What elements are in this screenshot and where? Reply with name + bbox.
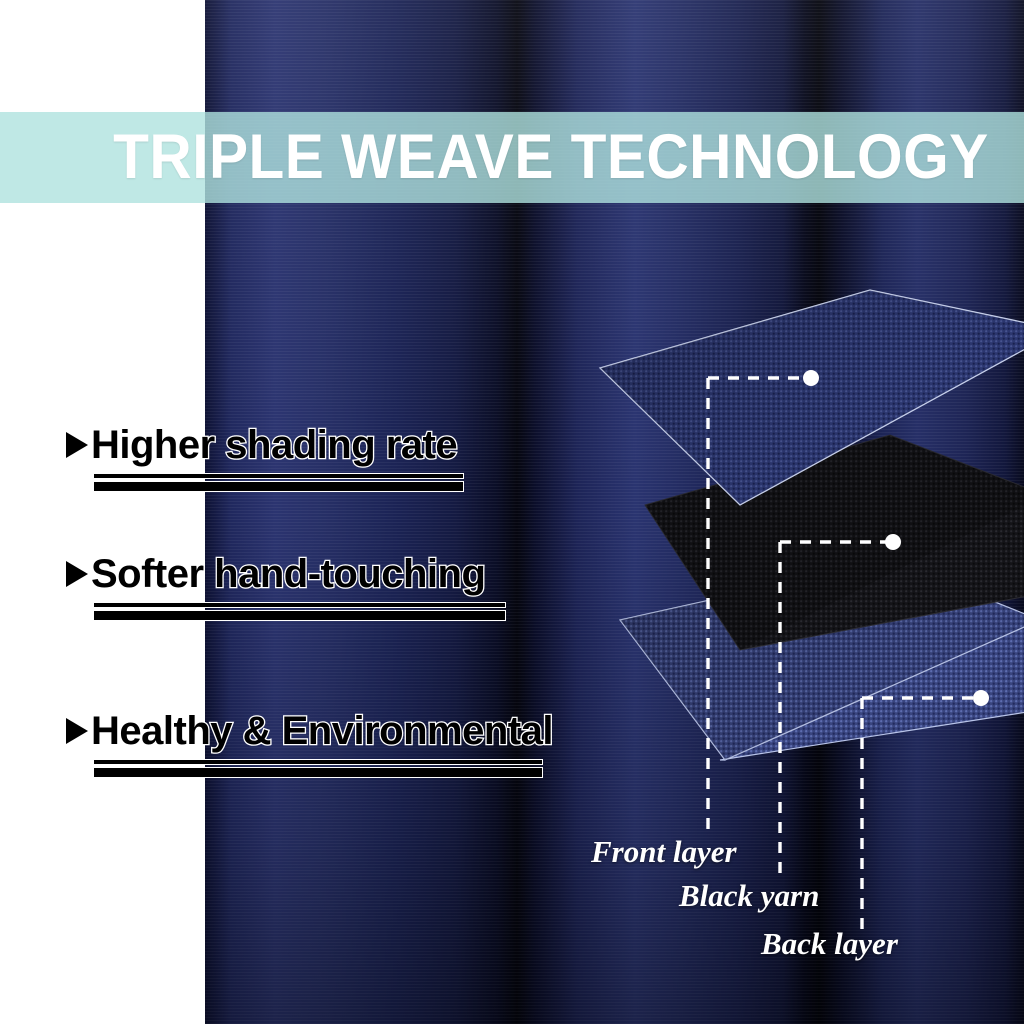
underline-thin-rule	[93, 759, 543, 765]
feature-item-2: Softer hand-touching	[66, 553, 506, 621]
feature-row: Healthy & Environmental	[66, 710, 553, 752]
white-dot-marker-front	[803, 370, 819, 386]
feature-label: Softer hand-touching	[91, 553, 485, 595]
feature-row: Softer hand-touching	[66, 553, 506, 595]
feature-item-3: Healthy & Environmental	[66, 710, 553, 778]
underline-thick-rule	[93, 481, 464, 492]
underline-thick-rule	[93, 767, 543, 778]
fabric-layers-diagram	[590, 290, 1024, 850]
page-title: TRIPLE WEAVE TECHNOLOGY	[72, 112, 1024, 203]
triangle-right-icon	[66, 432, 88, 458]
triangle-right-icon	[66, 561, 88, 587]
white-dot-marker-back	[973, 690, 989, 706]
triangle-right-icon	[66, 718, 88, 744]
callout-label-front-layer: Front layer	[591, 836, 737, 867]
feature-row: Higher shading rate	[66, 424, 464, 466]
callout-label-black-yarn: Black yarn	[679, 880, 819, 911]
feature-label: Higher shading rate	[91, 424, 457, 466]
underline-thin-rule	[93, 473, 464, 479]
underline-thick-rule	[93, 610, 506, 621]
feature-label: Healthy & Environmental	[91, 710, 553, 752]
white-dot-marker-black-yarn	[885, 534, 901, 550]
underline-thin-rule	[93, 602, 506, 608]
feature-underline	[93, 602, 506, 621]
feature-item-1: Higher shading rate	[66, 424, 464, 492]
product-feature-graphic: TRIPLE WEAVE TECHNOLOGY Higher shading r…	[0, 0, 1024, 1024]
feature-underline	[93, 759, 543, 778]
feature-underline	[93, 473, 464, 492]
callout-label-back-layer: Back layer	[761, 928, 898, 959]
